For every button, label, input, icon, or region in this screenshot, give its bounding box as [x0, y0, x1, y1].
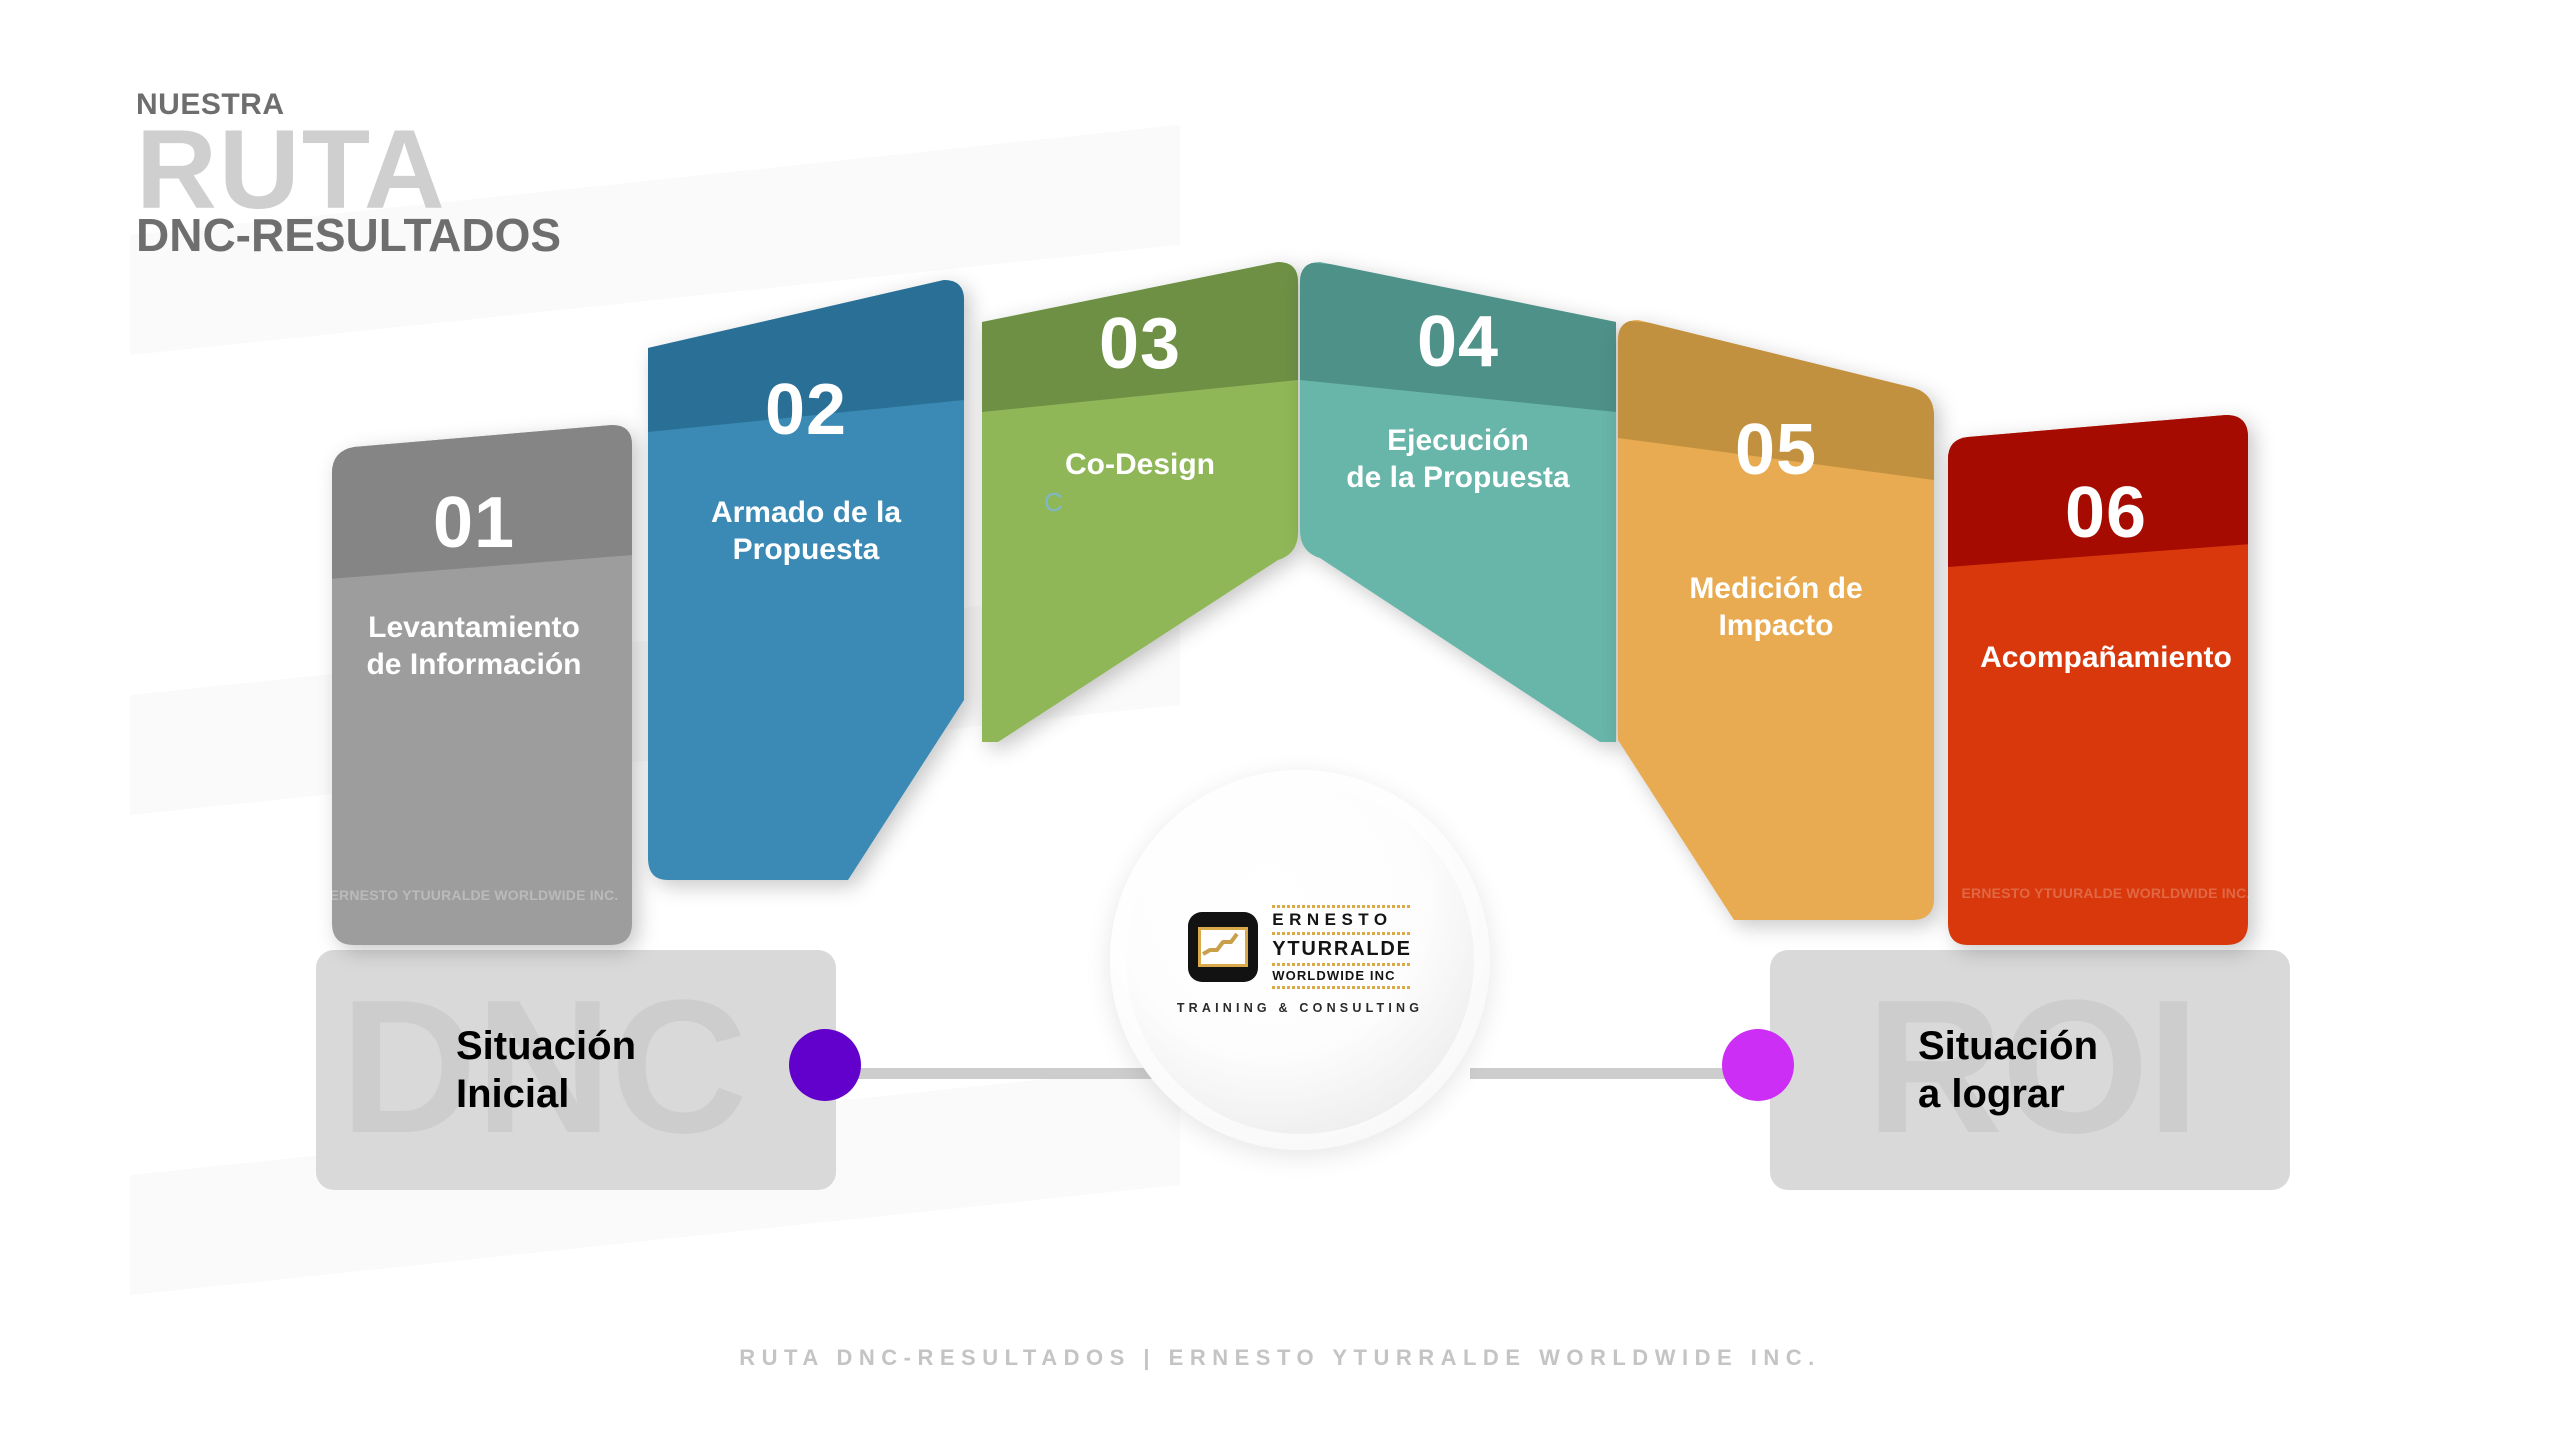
company-logo: ERNESTO YTURRALDE WORLDWIDE INC TRAINING…	[1110, 770, 1490, 1150]
growth-chart-icon	[1198, 927, 1248, 967]
step-card-03-label: Co-Design	[1065, 446, 1215, 483]
step-card-04-number: 04	[1417, 306, 1499, 378]
logo-rule	[1272, 932, 1412, 935]
step-card-01-number: 01	[433, 487, 515, 559]
chart-mark-icon	[1188, 912, 1258, 982]
step-card-01-label: Levantamiento de Información	[366, 609, 581, 683]
logo-rule	[1272, 963, 1412, 966]
step-card-01-watermark: ERNESTO YTUURALDE WORLDWIDE INC.	[316, 887, 632, 903]
logo-row: ERNESTO YTURRALDE WORLDWIDE INC	[1188, 905, 1412, 990]
step-card-04-label: Ejecución de la Propuesta	[1346, 422, 1569, 496]
step-card-05[interactable]: 05 Medición de Impacto	[1618, 320, 1934, 920]
page-title: NUESTRA RUTA DNC-RESULTADOS	[136, 90, 561, 258]
step-card-02-label: Armado de la Propuesta	[711, 494, 901, 568]
logo-rule	[1272, 905, 1412, 908]
step-card-02-number: 02	[765, 374, 847, 446]
logo-line-1: ERNESTO	[1272, 911, 1392, 930]
logo-line-2: YTURRALDE	[1272, 938, 1412, 960]
start-dot-marker[interactable]	[789, 1029, 861, 1101]
step-card-02[interactable]: 02 Armado de la Propuesta	[648, 280, 964, 880]
logo-tagline: TRAINING & CONSULTING	[1177, 1001, 1423, 1015]
slide-canvas: RUTA NUESTRA RUTA DNC-RESULTADOS DNC Sit…	[0, 0, 2560, 1440]
title-main: RUTA	[136, 122, 561, 218]
step-card-05-number: 05	[1735, 414, 1817, 486]
step-card-03-number: 03	[1099, 308, 1181, 380]
end-dot-marker[interactable]	[1722, 1029, 1794, 1101]
growth-line-icon	[1201, 930, 1239, 958]
logo-core: ERNESTO YTURRALDE WORLDWIDE INC TRAINING…	[1160, 865, 1440, 1055]
step-card-01[interactable]: 01 Levantamiento de Información ERNESTO …	[316, 425, 632, 945]
footer-credit: RUTA DNC-RESULTADOS | ERNESTO YTURRALDE …	[0, 1345, 2560, 1371]
logo-wordmark: ERNESTO YTURRALDE WORLDWIDE INC	[1272, 905, 1412, 990]
step-card-06-number: 06	[2065, 477, 2147, 549]
title-subtitle: DNC-RESULTADOS	[136, 212, 561, 258]
step-card-06[interactable]: 06 Acompañamiento ERNESTO YTUURALDE WORL…	[1948, 415, 2264, 945]
logo-line-3: WORLDWIDE INC	[1272, 969, 1395, 983]
step-card-06-watermark: ERNESTO YTUURALDE WORLDWIDE INC.	[1948, 885, 2264, 901]
step-card-04[interactable]: 04 Ejecución de la Propuesta	[1300, 262, 1616, 742]
step-card-03-sub: C	[1044, 489, 1063, 515]
logo-rule	[1272, 986, 1412, 989]
step-card-05-label: Medición de Impacto	[1689, 570, 1862, 644]
endpoint-start-label: Situación Inicial	[456, 1022, 636, 1118]
step-card-03[interactable]: 03 Co-Design C	[982, 262, 1298, 742]
step-card-06-label: Acompañamiento	[1980, 639, 2232, 676]
endpoint-end-label: Situación a lograr	[1918, 1022, 2098, 1118]
